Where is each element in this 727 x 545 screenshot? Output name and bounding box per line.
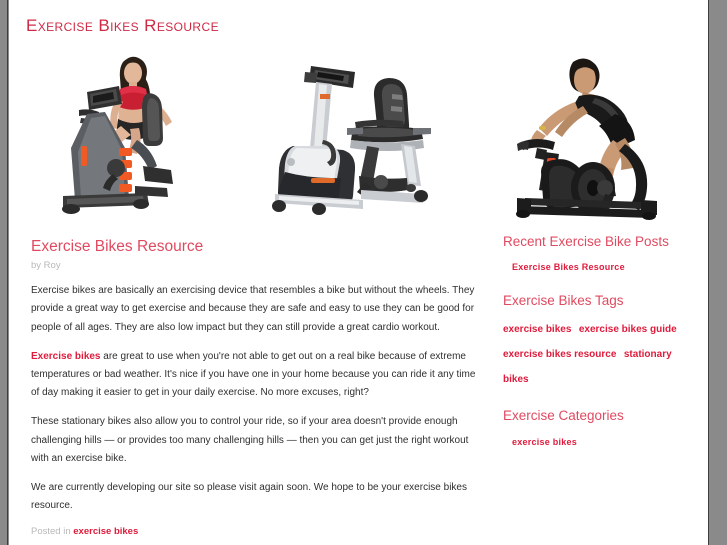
categories-list: exercise bikes (503, 432, 691, 450)
tag-link-exercise-bikes-resource[interactable]: exercise bikes resource (503, 349, 616, 360)
post-meta: Posted in exercise bikes (31, 526, 485, 537)
sidebar: Recent Exercise Bike Posts Exercise Bike… (503, 230, 691, 538)
post-body: Exercise bikes are basically an exercisi… (31, 282, 485, 515)
upright-exercise-bike-with-female-rider-image (51, 48, 241, 230)
post-paragraph-3: These stationary bikes also allow you to… (31, 413, 485, 468)
posted-in-category-link[interactable]: exercise bikes (73, 526, 138, 537)
site-header: Exercise Bikes Resource (9, 0, 708, 36)
page-gutter-left (0, 0, 8, 545)
posted-in-label: Posted in (31, 526, 71, 537)
page-gutter-right (708, 0, 727, 545)
post-title[interactable]: Exercise Bikes Resource (31, 238, 485, 257)
list-item: Exercise Bikes Resource (512, 257, 691, 275)
banner-images (9, 45, 708, 230)
widget-recent-posts: Recent Exercise Bike Posts Exercise Bike… (503, 234, 691, 275)
tag-link-exercise-bikes-guide[interactable]: exercise bikes guide (579, 324, 677, 335)
post-paragraph-4: We are currently developing our site so … (31, 479, 485, 515)
widget-categories: Exercise Categories exercise bikes (503, 408, 691, 449)
tag-link-exercise-bikes[interactable]: exercise bikes (503, 324, 571, 335)
widget-categories-title: Exercise Categories (503, 408, 691, 424)
content-columns: Exercise Bikes Resource by Roy Exercise … (9, 230, 708, 538)
main-content: Exercise Bikes Resource by Roy Exercise … (31, 230, 503, 538)
post-byline: by Roy (31, 260, 485, 271)
recent-posts-list: Exercise Bikes Resource (503, 257, 691, 275)
page-content: Exercise Bikes Resource (9, 0, 708, 545)
widget-tags: Exercise Bikes Tags exercise bikes exerc… (503, 293, 691, 391)
recumbent-exercise-bike-image (261, 48, 461, 230)
browser-page: Exercise Bikes Resource (0, 0, 727, 545)
widget-recent-posts-title: Recent Exercise Bike Posts (503, 234, 691, 250)
recent-post-link[interactable]: Exercise Bikes Resource (512, 262, 625, 272)
list-item: exercise bikes (512, 432, 691, 450)
post-paragraph-2: Exercise bikes are great to use when you… (31, 348, 485, 403)
site-title[interactable]: Exercise Bikes Resource (26, 17, 708, 36)
tag-cloud: exercise bikes exercise bikes guide exer… (503, 316, 691, 390)
widget-tags-title: Exercise Bikes Tags (503, 293, 691, 309)
spin-bike-with-male-rider-image (509, 48, 689, 230)
post-paragraph-1: Exercise bikes are basically an exercisi… (31, 282, 485, 337)
category-link-exercise-bikes[interactable]: exercise bikes (512, 437, 577, 447)
exercise-bikes-inline-link[interactable]: Exercise bikes (31, 351, 101, 362)
